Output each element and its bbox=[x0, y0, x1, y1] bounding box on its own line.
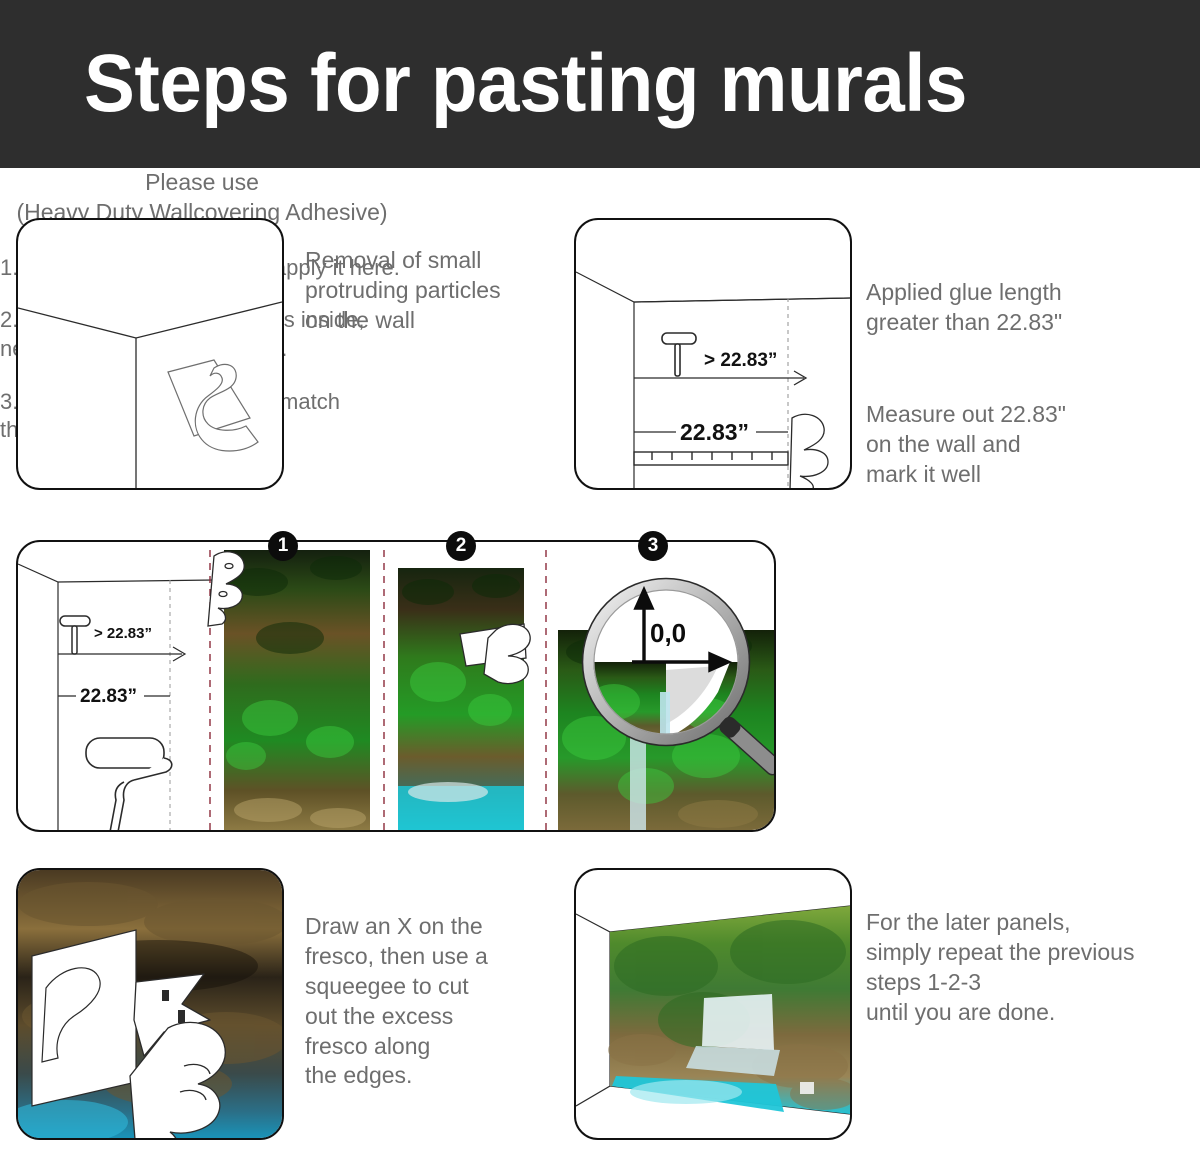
step-badge-3: 3 bbox=[638, 531, 668, 561]
finished-mural-illustration bbox=[576, 870, 850, 1138]
wall-measurement-illustration: > 22.83” 22.83” bbox=[576, 220, 850, 488]
caption-repeat-steps: For the later panels, simply repeat the … bbox=[866, 908, 1196, 1028]
step-badge-2: 2 bbox=[446, 531, 476, 561]
caption-glue-length: Applied glue length greater than 22.83" bbox=[866, 278, 1166, 338]
step-badge-1: 1 bbox=[268, 531, 298, 561]
panel-apply-wallpaper: > 22.83” 22.83” bbox=[16, 540, 776, 832]
cut-fresco-illustration bbox=[18, 870, 282, 1138]
page-header: Steps for pasting murals bbox=[0, 0, 1200, 168]
caption-measure-mark: Measure out 22.83" on the wall and mark … bbox=[866, 400, 1186, 490]
roller-length-label: > 22.83” bbox=[704, 350, 777, 371]
wall-corner-scraper-illustration bbox=[18, 220, 282, 488]
glue-roller-icon bbox=[60, 616, 90, 654]
paint-roller-icon bbox=[86, 738, 172, 830]
ruler-length-label: 22.83” bbox=[680, 419, 749, 445]
panel-remove-particles bbox=[16, 218, 284, 490]
mural-strip-2 bbox=[398, 568, 524, 830]
panel-repeat-steps bbox=[574, 868, 852, 1140]
caption-remove-particles: Removal of small protruding particles on… bbox=[305, 246, 575, 336]
mural-strip-1 bbox=[224, 550, 370, 830]
panel-cut-excess bbox=[16, 868, 284, 1140]
origin-label: 0,0 bbox=[650, 618, 686, 648]
caption-cut-excess: Draw an X on the fresco, then use a sque… bbox=[305, 912, 575, 1091]
apply-roller-label: > 22.83” bbox=[94, 625, 152, 642]
mural-photo bbox=[608, 906, 850, 1114]
panel-measure-wall: > 22.83” 22.83” bbox=[574, 218, 852, 490]
apply-strips-illustration: > 22.83” 22.83” bbox=[18, 542, 774, 830]
page-title: Steps for pasting murals bbox=[84, 43, 967, 125]
apply-ruler-label: 22.83” bbox=[80, 686, 137, 707]
